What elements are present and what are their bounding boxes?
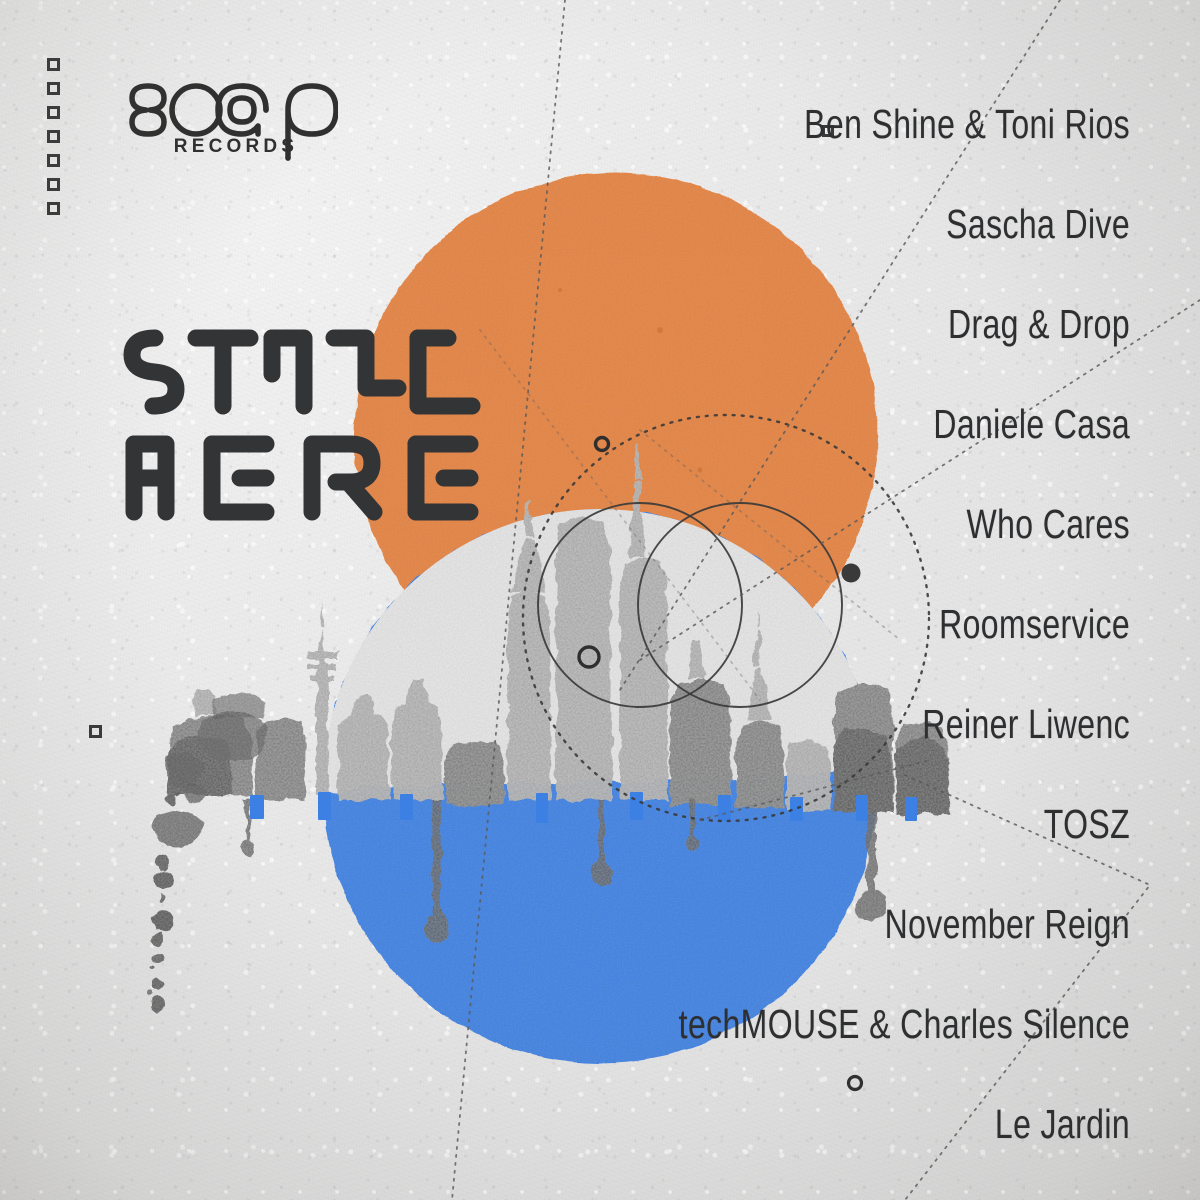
logo-records-text: RECORDS [174, 136, 298, 157]
square-marker-icon [47, 82, 60, 95]
artist-list: Ben Shine & Toni Rios Sascha Dive Drag &… [410, 74, 1130, 1174]
artist-name: Who Cares [568, 474, 1130, 574]
square-marker-icon [47, 130, 60, 143]
artist-name: Sascha Dive [568, 174, 1130, 274]
square-marker-icon [47, 106, 60, 119]
square-marker-icon [47, 202, 60, 215]
artist-name: Drag & Drop [568, 274, 1130, 374]
artist-name: Le Jardin [568, 1074, 1130, 1174]
square-marker-icon [47, 154, 60, 167]
artist-name: Ben Shine & Toni Rios [568, 74, 1130, 174]
artist-name: Reiner Liwenc [568, 674, 1130, 774]
artist-name: TOSZ [568, 774, 1130, 874]
album-cover: RECORDS [0, 0, 1200, 1200]
artist-name: Daniele Casa [568, 374, 1130, 474]
soap-records-logo: RECORDS [118, 62, 338, 162]
logo-subtext: RECORDS [174, 136, 298, 157]
square-marker-icon [47, 178, 60, 191]
artist-name: techMOUSE & Charles Silence [568, 974, 1130, 1074]
square-marker-icon-left [89, 725, 102, 738]
square-marker-icon [47, 58, 60, 71]
artist-name: Roomservice [568, 574, 1130, 674]
artist-name: November Reign [568, 874, 1130, 974]
